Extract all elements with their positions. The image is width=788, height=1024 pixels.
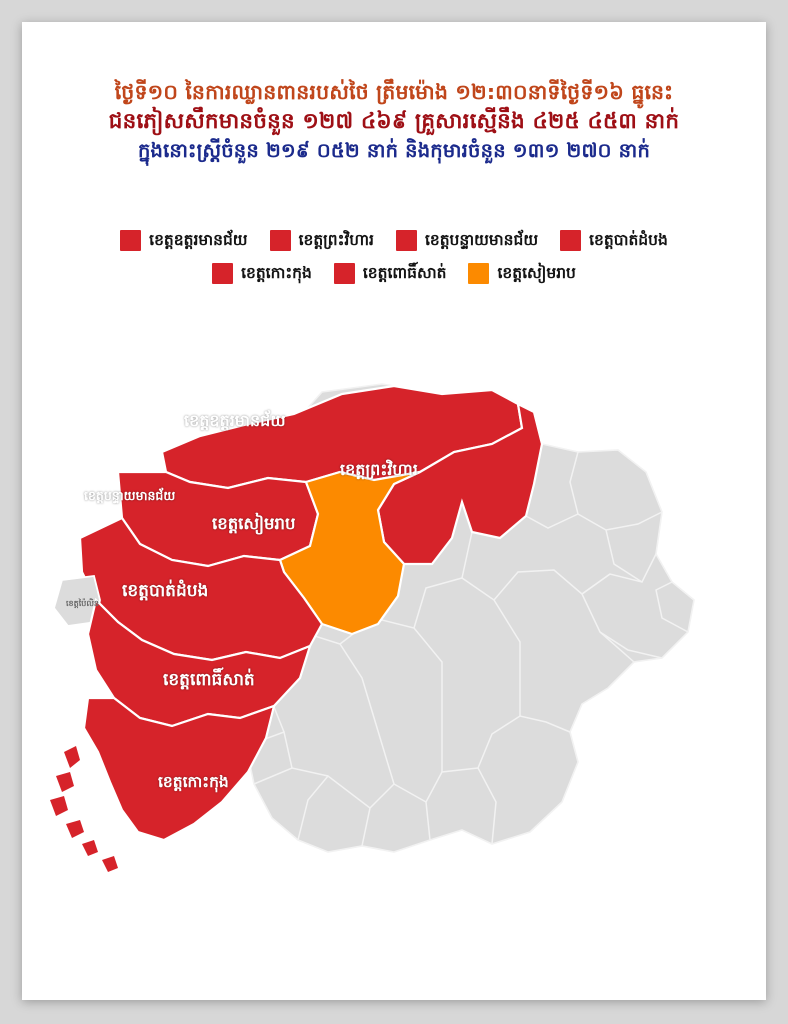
- legend-item-banteay-meanchey: ខេត្តបន្ទាយមានជ័យ: [396, 230, 538, 251]
- legend-item-pursat: ខេត្តពោធិ៍សាត់: [334, 263, 447, 284]
- legend-label: ខេត្តបាត់ដំបង: [589, 233, 668, 249]
- title-line-2: ជនភៀសសឹកមានចំនួន ១២៧ ៤៦៩ គ្រួសារស្មើនឹង …: [22, 109, 766, 135]
- cambodia-map-svg: [22, 332, 766, 932]
- legend-row-1: ខេត្តឧត្តរមានជ័យ ខេត្តព្រះវិហារ ខេត្តបន្…: [22, 230, 766, 251]
- legend-item-preah-vihear: ខេត្តព្រះវិហារ: [270, 230, 374, 251]
- title-block: ថ្ងៃទី១០ នៃការឈ្លានពានរបស់ថៃ ត្រឹមម៉ោង ១…: [22, 80, 766, 163]
- legend-label: ខេត្តកោះកុង: [241, 266, 312, 282]
- title-line-3: ក្នុងនោះស្ត្រីចំនួន ២១៩ ០៥២ នាក់ និងកុមា…: [22, 139, 766, 163]
- legend: ខេត្តឧត្តរមានជ័យ ខេត្តព្រះវិហារ ខេត្តបន្…: [22, 230, 766, 296]
- legend-swatch-icon: [468, 263, 489, 284]
- legend-swatch-icon: [120, 230, 141, 251]
- legend-item-koh-kong: ខេត្តកោះកុង: [212, 263, 312, 284]
- legend-swatch-icon: [270, 230, 291, 251]
- legend-label: ខេត្តឧត្តរមានជ័យ: [149, 233, 247, 249]
- legend-label: ខេត្តបន្ទាយមានជ័យ: [425, 233, 538, 249]
- legend-swatch-icon: [334, 263, 355, 284]
- title-line-1: ថ្ងៃទី១០ នៃការឈ្លានពានរបស់ថៃ ត្រឹមម៉ោង ១…: [22, 80, 766, 105]
- legend-swatch-icon: [560, 230, 581, 251]
- legend-row-2: ខេត្តកោះកុង ខេត្តពោធិ៍សាត់ ខេត្តសៀមរាប: [22, 263, 766, 284]
- legend-label: ខេត្តព្រះវិហារ: [299, 233, 374, 249]
- legend-swatch-icon: [396, 230, 417, 251]
- legend-swatch-icon: [212, 263, 233, 284]
- poster-page: ថ្ងៃទី១០ នៃការឈ្លានពានរបស់ថៃ ត្រឹមម៉ោង ១…: [0, 0, 788, 1024]
- legend-item-siem-reap: ខេត្តសៀមរាប: [468, 263, 575, 284]
- legend-label: ខេត្តពោធិ៍សាត់: [363, 266, 447, 282]
- legend-label: ខេត្តសៀមរាប: [497, 266, 575, 282]
- poster-sheet: ថ្ងៃទី១០ នៃការឈ្លានពានរបស់ថៃ ត្រឹមម៉ោង ១…: [22, 22, 766, 1000]
- legend-item-battambang: ខេត្តបាត់ដំបង: [560, 230, 668, 251]
- cambodia-map: ខេត្តឧត្តរមានជ័យ ខេត្តព្រះវិហារ ខេត្តបន្…: [22, 332, 766, 932]
- legend-item-oddar-meanchey: ខេត្តឧត្តរមានជ័យ: [120, 230, 247, 251]
